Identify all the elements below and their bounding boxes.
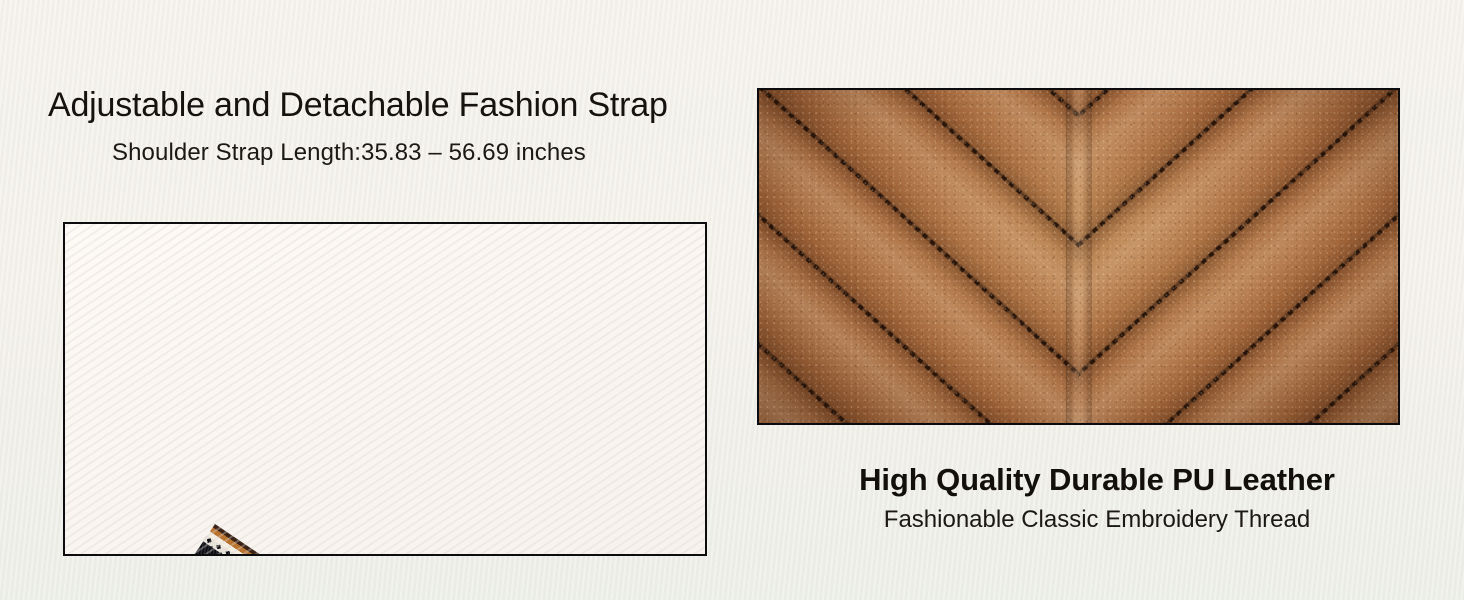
- right-feature-column: High Quality Durable PU Leather Fashiona…: [730, 0, 1464, 600]
- strap-zigzag-edge: [203, 535, 707, 556]
- leather-vignette: [759, 90, 1398, 423]
- right-panel-title: High Quality Durable PU Leather: [730, 462, 1464, 498]
- light-embroidered-strap: [63, 524, 707, 556]
- right-panel-subtitle: Fashionable Classic Embroidery Thread: [730, 506, 1464, 534]
- leather-photo-frame: [757, 88, 1400, 425]
- strap-photo-frame: [63, 222, 707, 556]
- dark-embroidered-strap: [164, 524, 707, 556]
- left-feature-column: Adjustable and Detachable Fashion Strap …: [0, 0, 730, 600]
- left-panel-title: Adjustable and Detachable Fashion Strap: [48, 86, 668, 125]
- product-feature-banner: Adjustable and Detachable Fashion Strap …: [0, 0, 1464, 600]
- strap-weave-texture: [171, 536, 707, 556]
- strap-weave-texture: [63, 528, 707, 556]
- left-panel-subtitle: Shoulder Strap Length:35.83 – 56.69 inch…: [112, 139, 586, 167]
